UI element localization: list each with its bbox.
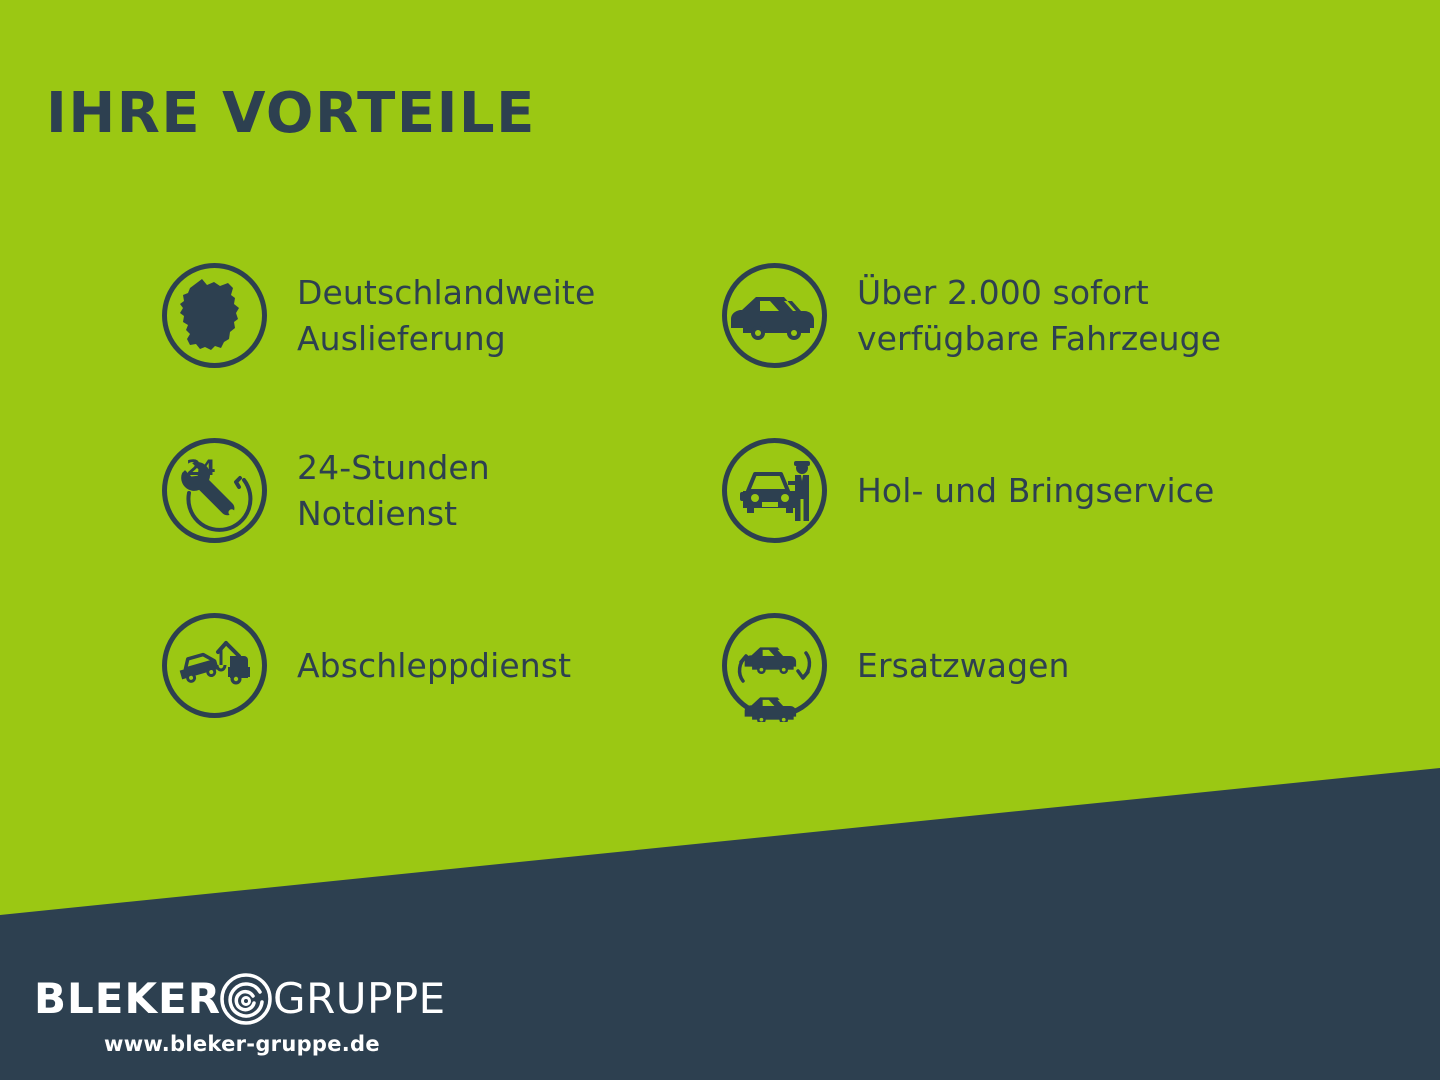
logo-word-gruppe: GRUPPE [273,978,446,1020]
page-title: IHRE VORTEILE [46,86,536,142]
benefit-label-line2: Notdienst [297,491,490,537]
benefit-item-ersatzwagen: Ersatzwagen [718,578,1278,753]
brand-logo: BLEKER GRUPPE www.bleker-gruppe.de [34,975,446,1056]
benefit-label: Abschleppdienst [297,643,571,689]
benefit-label-line1: Deutschlandweite [297,273,595,312]
benefit-item-deutschlandweite-auslieferung: Deutschlandweite Auslieferung [158,228,718,403]
car-with-driver-icon [718,434,831,547]
benefit-label: Über 2.000 sofort verfügbare Fahrzeuge [857,270,1221,361]
benefit-label: Deutschlandweite Auslieferung [297,270,595,361]
benefit-label-line2: Auslieferung [297,316,595,362]
benefit-item-abschleppdienst: Abschleppdienst [158,578,718,753]
benefits-grid: Deutschlandweite Auslieferung Über 2.000… [158,228,1338,753]
benefit-item-24-stunden-notdienst: 24 24-Stunden Notdienst [158,403,718,578]
germany-map-icon [158,259,271,372]
logo-word-bleker: BLEKER [34,978,221,1020]
benefit-label-line1: Abschleppdienst [297,646,571,685]
slide-root: IHRE VORTEILE Deutschlandweite Ausliefer… [0,0,1440,1080]
car-exchange-icon [718,609,831,722]
logo-website-url: www.bleker-gruppe.de [104,1032,380,1056]
logo-wordmark-row: BLEKER GRUPPE [34,975,446,1023]
benefit-label-line1: Hol- und Bringservice [857,471,1214,510]
24-hour-wrench-icon: 24 [158,434,271,547]
tow-truck-icon [158,609,271,722]
benefit-label-line2: verfügbare Fahrzeuge [857,316,1221,362]
benefit-label-line1: 24-Stunden [297,448,490,487]
spiral-icon [217,970,275,1028]
benefit-item-hol-und-bringservice: Hol- und Bringservice [718,403,1278,578]
benefit-label-line1: Über 2.000 sofort [857,273,1149,312]
benefit-label: Ersatzwagen [857,643,1070,689]
benefit-item-verfuegbare-fahrzeuge: Über 2.000 sofort verfügbare Fahrzeuge [718,228,1278,403]
car-side-icon [718,259,831,372]
benefit-label: 24-Stunden Notdienst [297,445,490,536]
benefit-label-line1: Ersatzwagen [857,646,1070,685]
benefit-label: Hol- und Bringservice [857,468,1214,514]
